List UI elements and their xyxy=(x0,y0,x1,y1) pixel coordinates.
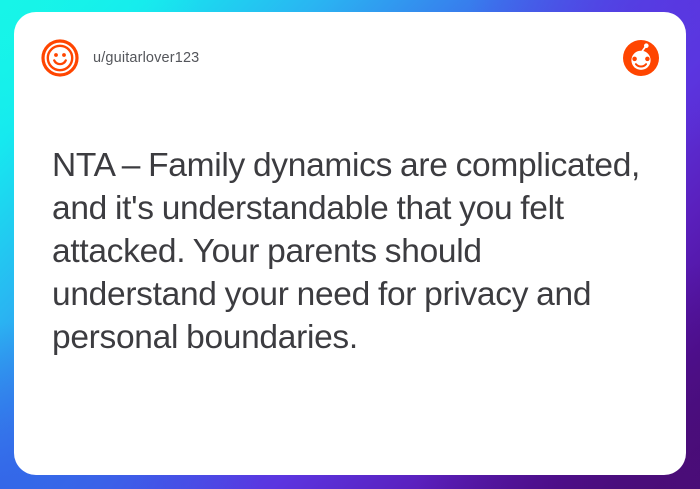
username-label: u/guitarlover123 xyxy=(93,50,199,66)
post-body-text: NTA – Family dynamics are complicated, a… xyxy=(40,144,660,359)
reddit-comment-card: u/guitarlover123 NTA – Family dynamics a… xyxy=(14,12,686,475)
gradient-background: u/guitarlover123 NTA – Family dynamics a… xyxy=(0,0,700,489)
smiley-face-icon xyxy=(40,38,80,78)
reddit-snoo-icon xyxy=(622,39,660,77)
card-header: u/guitarlover123 xyxy=(40,36,660,80)
